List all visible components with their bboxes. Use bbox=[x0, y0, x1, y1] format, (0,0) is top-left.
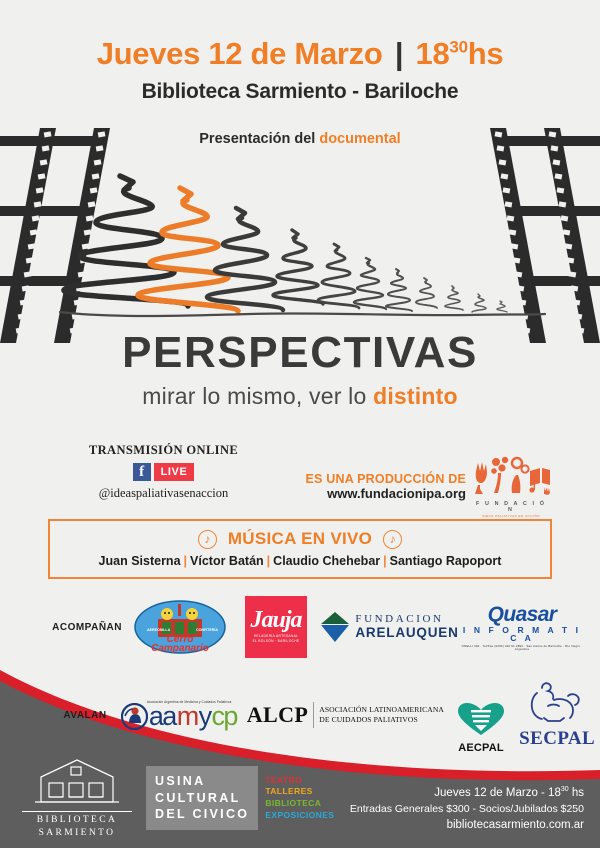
usina-activity: TALLERES bbox=[265, 786, 334, 798]
endorser-logo-aecpal: AECPAL bbox=[448, 676, 515, 754]
endorser-logo-alcp: ALCP ASOCIACIÓN LATINOAMERICANA DE CUIDA… bbox=[243, 702, 448, 728]
presentation-highlight: documental bbox=[319, 131, 400, 147]
footer-event-info: Jueves 12 de Marzo - 1830 hs Entradas Ge… bbox=[350, 785, 584, 834]
event-time: 1830hs bbox=[416, 36, 504, 71]
production-label: ES UNA PRODUCCIÓN DE bbox=[300, 472, 466, 486]
documentary-title-block: PERSPECTIVAS mirar lo mismo, ver lo dist… bbox=[0, 331, 600, 410]
usina-activities-list: TEATRO TALLERES BIBLIOTECA EXPOSICIONES bbox=[265, 775, 334, 821]
biblioteca-sarmiento-logo: BIBLIOTECA SARMIENTO bbox=[22, 757, 132, 840]
jauja-logo-text: Jauja bbox=[250, 610, 301, 632]
live-badge: LIVE bbox=[154, 463, 195, 480]
quasar-logo-text: Quasar bbox=[457, 604, 587, 625]
endorsers-label: AVALAN bbox=[0, 710, 115, 721]
artist-name: Claudio Chehebar bbox=[273, 554, 380, 568]
usina-line2: CULTURAL bbox=[155, 790, 249, 807]
endorsers-row: AVALAN Asociación Argentina de Medicina … bbox=[0, 676, 600, 754]
sponsors-label: ACOMPAÑAN bbox=[0, 622, 130, 633]
svg-text:AEREOSILLA: AEREOSILLA bbox=[147, 628, 171, 632]
music-title: MÚSICA EN VIVO bbox=[228, 529, 372, 549]
svg-text:CONFITERÍA: CONFITERÍA bbox=[196, 627, 218, 632]
event-date-time: Jueves 12 de Marzo | 1830hs bbox=[0, 38, 600, 71]
arelauquen-line2: ARELAUQUEN bbox=[355, 626, 458, 641]
footer-prices: Entradas Generales $300 - Socios/Jubilad… bbox=[350, 802, 584, 817]
alcp-acronym: ALCP bbox=[247, 702, 309, 728]
sponsor-logo-quasar: Quasar I N F O R M A T I C A ONELLI 340 … bbox=[457, 604, 587, 651]
sponsor-logo-cerro-campanario: AEREOSILLA CONFITERÍA Cerro Campanario bbox=[130, 599, 230, 655]
artist-name: Santiago Rapoport bbox=[390, 554, 502, 568]
event-date: Jueves 12 de Marzo bbox=[97, 36, 383, 71]
endorser-logo-secpal: SECPAL bbox=[514, 680, 600, 750]
secpal-text: SECPAL bbox=[519, 728, 595, 750]
poster-header: Jueves 12 de Marzo | 1830hs Biblioteca S… bbox=[0, 0, 600, 147]
poster: Jueves 12 de Marzo | 1830hs Biblioteca S… bbox=[0, 0, 600, 848]
documentary-subtitle: mirar lo mismo, ver lo distinto bbox=[0, 383, 600, 410]
presentation-prefix: Presentación del bbox=[199, 131, 319, 147]
biblioteca-logo-text: BIBLIOTECA SARMIENTO bbox=[22, 811, 132, 840]
usina-logo-box: USINA CULTURAL DEL CIVICO bbox=[146, 766, 258, 830]
event-venue: Biblioteca Sarmiento - Bariloche bbox=[0, 80, 600, 104]
footer-date: Jueves 12 de Marzo - 1830 hs bbox=[350, 785, 584, 802]
arelauquen-line1: FUNDACION bbox=[355, 614, 458, 626]
footer-website[interactable]: bibliotecasarmiento.com.ar bbox=[350, 817, 584, 834]
svg-text:Campanario: Campanario bbox=[151, 643, 209, 654]
usina-activity: BIBLIOTECA bbox=[265, 798, 334, 810]
presentation-line: Presentación del documental bbox=[0, 131, 600, 147]
production-block: ES UNA PRODUCCIÓN DE www.fundacionipa.or… bbox=[300, 455, 550, 518]
usina-cultural-logo: USINA CULTURAL DEL CIVICO TEATRO TALLERE… bbox=[146, 766, 334, 830]
live-music-box: ♪ MÚSICA EN VIVO ♪ Juan Sisterna|Víctor … bbox=[48, 519, 552, 579]
music-note-icon-left: ♪ bbox=[198, 530, 217, 549]
endorser-logo-aamycp: Asociación Argentina de Medicina y Cuida… bbox=[115, 700, 243, 730]
artist-name: Víctor Batán bbox=[190, 554, 264, 568]
alcp-divider bbox=[313, 702, 314, 728]
music-artists-list: Juan Sisterna|Víctor Batán|Claudio Chehe… bbox=[50, 554, 550, 568]
scribble-pine-trees-illustration bbox=[0, 168, 600, 330]
jauja-logo-subtext: HELADERÍA ARTESANALEL BOLSÓN · BARILOCHE bbox=[253, 634, 300, 644]
facebook-live-row[interactable]: f LIVE bbox=[56, 463, 271, 481]
usina-line3: DEL CIVICO bbox=[155, 806, 249, 823]
ipa-logo-caption: F U N D A C I Ó N bbox=[472, 501, 550, 513]
sponsors-row: ACOMPAÑAN AEREOSILLA CONFITERÍA Cerro Ca… bbox=[0, 596, 600, 658]
alcp-fullname: ASOCIACIÓN LATINOAMERICANA DE CUIDADOS P… bbox=[319, 705, 444, 725]
music-heading-row: ♪ MÚSICA EN VIVO ♪ bbox=[50, 529, 550, 549]
documentary-title: PERSPECTIVAS bbox=[0, 331, 600, 375]
usina-line1: USINA bbox=[155, 773, 249, 790]
usina-activity: TEATRO bbox=[265, 775, 334, 787]
transmission-label: TRANSMISIÓN ONLINE bbox=[56, 443, 271, 458]
quasar-logo-contact: ONELLI 340 · Tel/Fax (0294) 442 61 2892 … bbox=[457, 645, 587, 651]
social-handle[interactable]: @ideaspaliativasenaccion bbox=[56, 486, 271, 501]
footer-content: BIBLIOTECA SARMIENTO USINA CULTURAL DEL … bbox=[0, 748, 600, 848]
production-url[interactable]: www.fundacionipa.org bbox=[300, 486, 466, 501]
artist-name: Juan Sisterna bbox=[99, 554, 181, 568]
online-transmission-block: TRANSMISIÓN ONLINE f LIVE @ideaspaliativ… bbox=[56, 443, 271, 501]
sponsor-logo-arelauquen: FUNDACION ARELAUQUEN bbox=[322, 610, 457, 644]
sponsor-logo-jauja: Jauja HELADERÍA ARTESANALEL BOLSÓN · BAR… bbox=[230, 596, 322, 658]
usina-activity: EXPOSICIONES bbox=[265, 810, 334, 822]
production-text: ES UNA PRODUCCIÓN DE www.fundacionipa.or… bbox=[300, 472, 466, 501]
facebook-icon[interactable]: f bbox=[133, 463, 151, 481]
quasar-logo-subtext: I N F O R M A T I C A bbox=[457, 626, 587, 643]
fundacion-ipa-logo: F U N D A C I Ó N IDEAS PALIATIVAS EN AC… bbox=[472, 455, 550, 518]
music-note-icon-right: ♪ bbox=[383, 530, 402, 549]
date-time-separator: | bbox=[391, 36, 407, 71]
subtitle-highlight: distinto bbox=[373, 383, 458, 409]
ipa-logo-subcaption: IDEAS PALIATIVAS EN ACCIÓN bbox=[472, 514, 550, 518]
subtitle-prefix: mirar lo mismo, ver lo bbox=[142, 383, 373, 409]
